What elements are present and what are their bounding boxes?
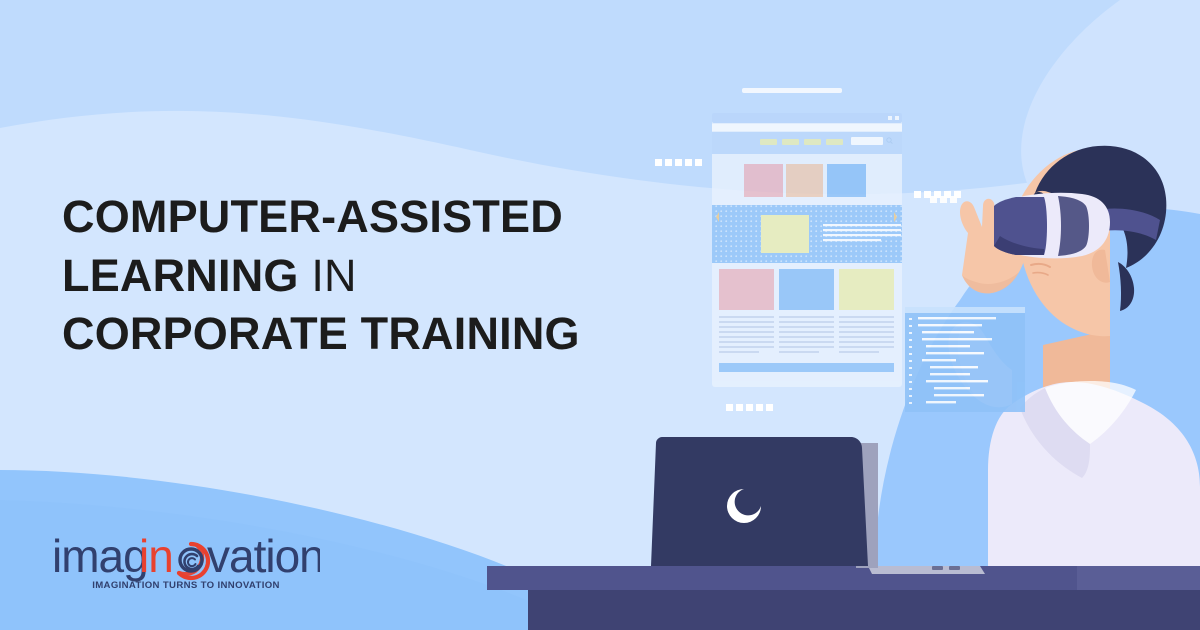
hero-card-blue bbox=[827, 164, 866, 197]
promo-banner: COMPUTER-ASSISTED LEARNING IN CORPORATE … bbox=[0, 0, 1200, 630]
browser-title-bar bbox=[712, 113, 902, 123]
dash-marker-person bbox=[930, 196, 957, 203]
logo-wordmark-part-3: vation bbox=[207, 530, 320, 582]
nav-pill-4 bbox=[826, 139, 843, 145]
imaginovation-logo[interactable]: imag in vation IMAGINATION TURNS TO INNO… bbox=[52, 528, 320, 598]
nav-pill-1 bbox=[760, 139, 777, 145]
hero-card-pink bbox=[744, 164, 783, 197]
hair-sideburn bbox=[1118, 262, 1134, 311]
desk-top-right bbox=[1077, 566, 1200, 590]
nav-pill-2 bbox=[782, 139, 799, 145]
laptop bbox=[651, 437, 985, 574]
logo-tagline: IMAGINATION TURNS TO INNOVATION bbox=[92, 580, 280, 591]
logo-wordmark-part-2: in bbox=[139, 530, 173, 582]
headline-line-2-bold: LEARNING bbox=[62, 250, 299, 301]
window-control-2 bbox=[895, 116, 899, 120]
browser-top-dash-bar bbox=[742, 88, 842, 93]
laptop-lid bbox=[651, 437, 868, 566]
headline-line-2-light: IN bbox=[311, 250, 356, 301]
article-thumb-blue bbox=[779, 269, 834, 310]
headline-line-1: COMPUTER-ASSISTED bbox=[62, 188, 682, 247]
page-title: COMPUTER-ASSISTED LEARNING IN CORPORATE … bbox=[62, 188, 682, 364]
logo-wordmark-part-1: imag bbox=[52, 530, 148, 582]
browser-search-input bbox=[851, 137, 883, 145]
laptop-port-1 bbox=[932, 566, 943, 570]
article-thumb-pink bbox=[719, 269, 774, 310]
desk bbox=[487, 566, 1200, 630]
laptop-port-2 bbox=[949, 566, 960, 570]
headline-line-3-text: CORPORATE TRAINING bbox=[62, 308, 580, 359]
hero-card-peach bbox=[786, 164, 823, 197]
swirl-o-icon bbox=[179, 544, 208, 578]
browser-url-bar bbox=[712, 124, 902, 131]
floating-code-editor bbox=[905, 307, 1025, 412]
dash-marker-bottom bbox=[726, 404, 773, 411]
code-panel-header bbox=[905, 307, 1025, 313]
browser-footer-bar bbox=[719, 363, 894, 372]
headline-line-3: CORPORATE TRAINING bbox=[62, 305, 682, 364]
window-control-1 bbox=[888, 116, 892, 120]
floating-browser-mockup bbox=[712, 88, 902, 387]
headset-inner-shade bbox=[1058, 196, 1089, 256]
carousel-thumb bbox=[761, 215, 809, 253]
headline-line-1-text: COMPUTER-ASSISTED bbox=[62, 191, 563, 242]
dash-marker-left bbox=[655, 159, 702, 166]
nav-pill-3 bbox=[804, 139, 821, 145]
laptop-base bbox=[868, 566, 985, 574]
desk-front bbox=[528, 590, 1200, 630]
headline-line-2: LEARNING IN bbox=[62, 247, 682, 306]
article-thumb-yellow bbox=[839, 269, 894, 310]
